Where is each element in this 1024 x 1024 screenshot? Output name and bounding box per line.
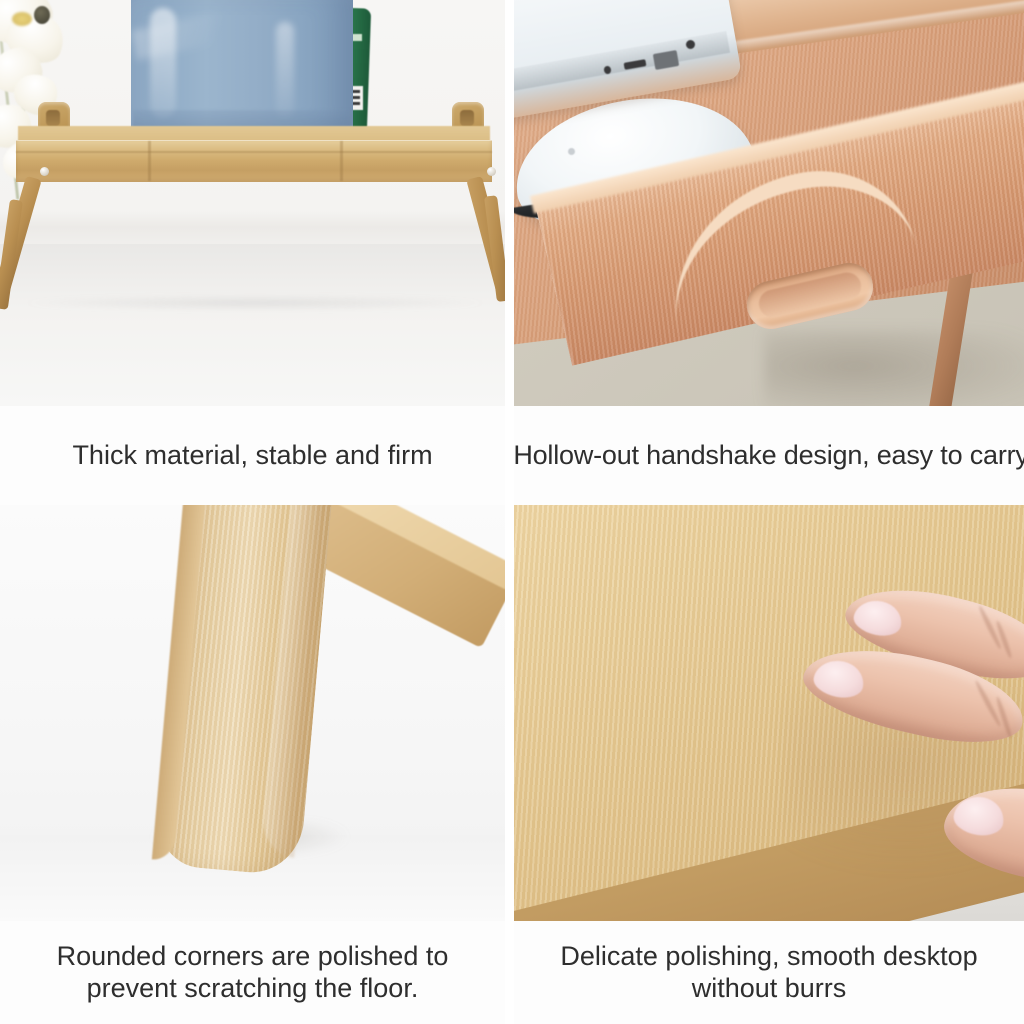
- tray-rail-joint: [148, 141, 151, 181]
- caption-text-block: Delicate polishing, smooth desktop witho…: [560, 941, 977, 1005]
- flower-center: [12, 12, 32, 26]
- feature-panel-rounded-corners[interactable]: [0, 505, 505, 921]
- flower-bud: [34, 6, 50, 24]
- caption-hollow-out-handle: Hollow-out handshake design, easy to car…: [514, 406, 1024, 505]
- caption-smooth-desktop: Delicate polishing, smooth desktop witho…: [514, 921, 1024, 1024]
- hollow-out-handle-closeup-photo: [514, 0, 1024, 406]
- caption-line: Rounded corners are polished to: [57, 941, 449, 973]
- tray-side-rail: [16, 140, 492, 182]
- caption-text: Thick material, stable and firm: [72, 440, 432, 472]
- caption-thick-material: Thick material, stable and firm: [0, 406, 505, 505]
- caption-line: prevent scratching the floor.: [57, 973, 449, 1005]
- fingers-on-smooth-desktop-photo: [514, 505, 1024, 921]
- rounded-leg-foot-closeup-photo: [0, 505, 505, 921]
- caption-line: without burrs: [560, 973, 977, 1005]
- caption-text-block: Rounded corners are polished to prevent …: [57, 941, 449, 1005]
- mouse-surface-mark: [568, 148, 575, 155]
- feature-panel-smooth-desktop[interactable]: [514, 505, 1024, 921]
- caption-rounded-corners: Rounded corners are polished to prevent …: [0, 921, 505, 1024]
- caption-line: Delicate polishing, smooth desktop: [560, 941, 977, 973]
- jug-gloss-highlight: [150, 8, 176, 118]
- feature-panel-hollow-out-handle[interactable]: [514, 0, 1024, 406]
- tray-screw-right: [487, 167, 496, 176]
- product-feature-collage: Thick material, stable and firm Hollow-o…: [0, 0, 1024, 1024]
- floor-surface: [0, 244, 505, 406]
- tray-screw-left: [40, 167, 49, 176]
- feature-panel-thick-material[interactable]: [0, 0, 505, 406]
- tray-corner-notch-right: [460, 110, 474, 126]
- tray-corner-notch-left: [46, 110, 60, 126]
- tray-floor-shadow: [24, 296, 486, 310]
- tray-rail-seam: [16, 151, 492, 153]
- bamboo-tray-with-water-jug-photo: [0, 0, 505, 406]
- jug-gloss-highlight: [276, 22, 294, 118]
- caption-text: Hollow-out handshake design, easy to car…: [509, 440, 1024, 472]
- tray-leg-shadow: [764, 330, 1024, 406]
- tray-rail-joint: [340, 141, 343, 181]
